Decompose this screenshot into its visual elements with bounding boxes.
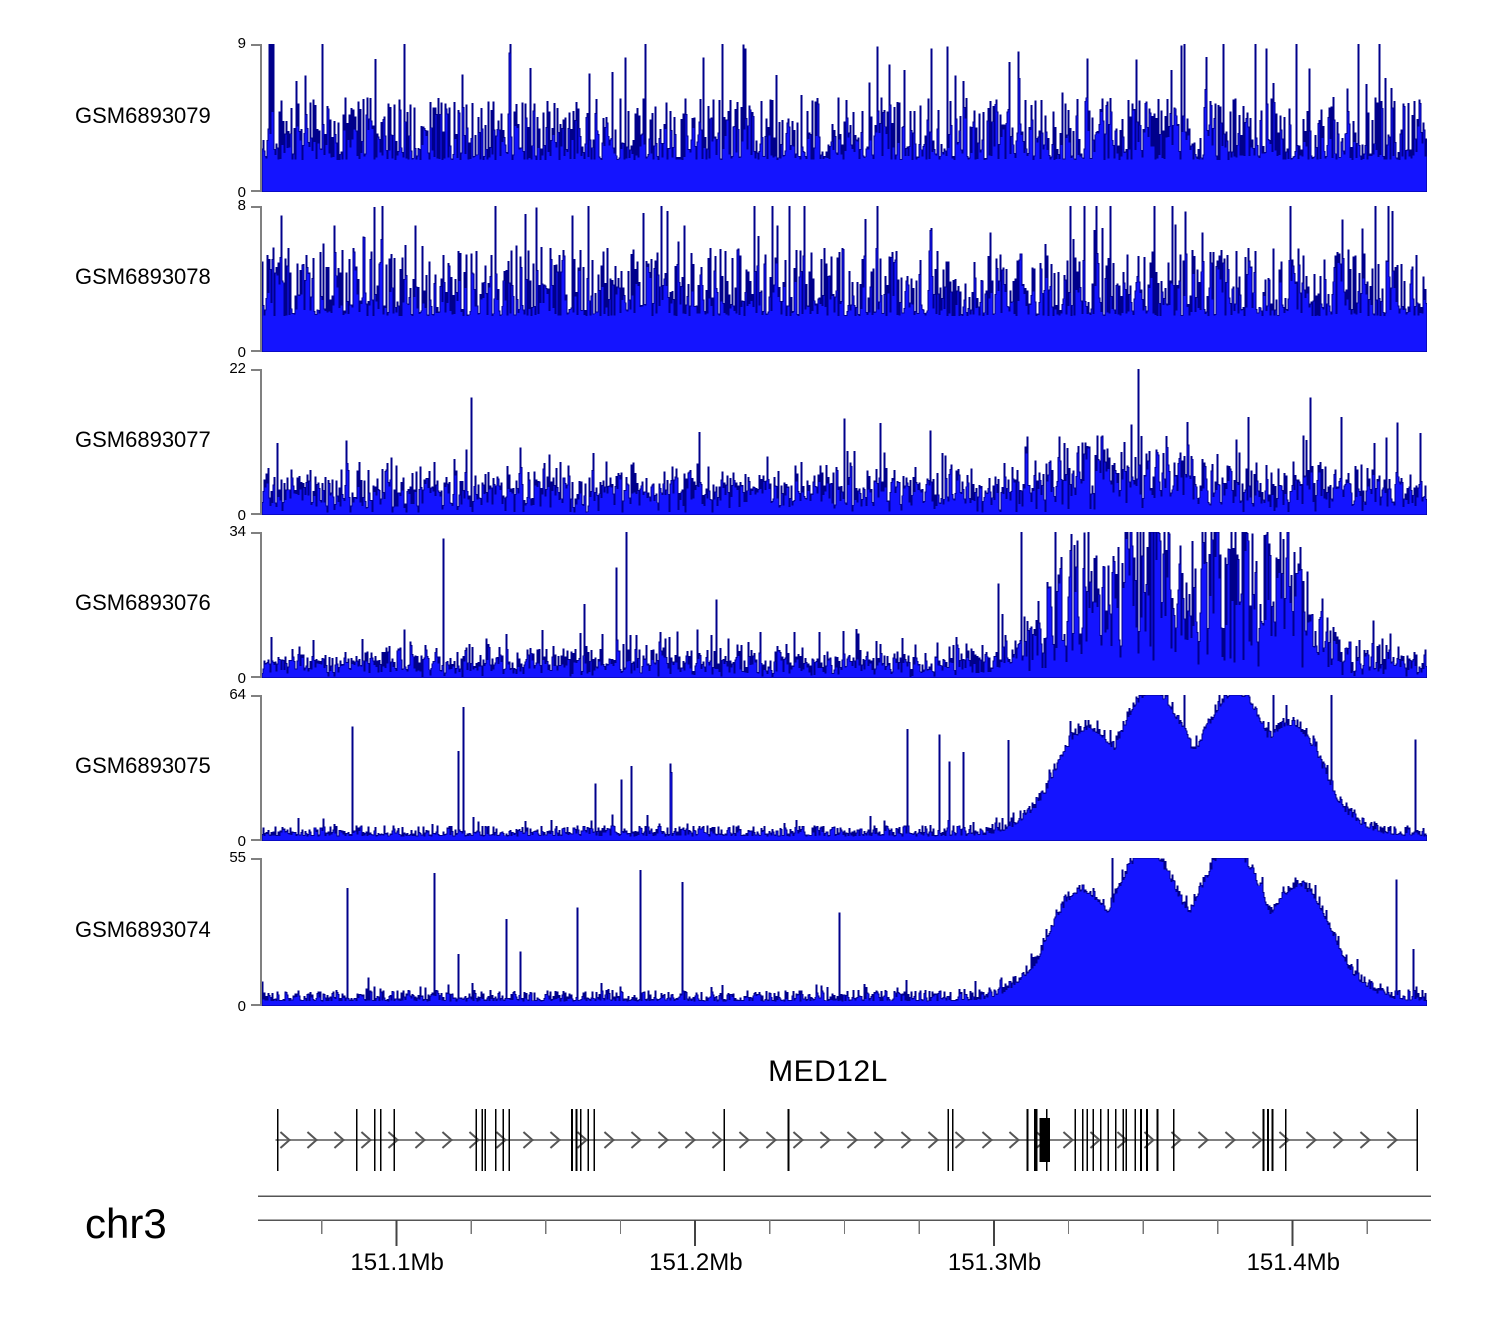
plot-area-gsm6893078[interactable]	[262, 206, 1427, 352]
plot-area-gsm6893079[interactable]	[262, 44, 1427, 192]
exon-bar	[580, 1109, 582, 1171]
coordinate-axis-track: chr3 151.1Mb151.2Mb151.3Mb151.4Mb	[0, 1190, 1500, 1300]
y-axis-tick-max	[251, 858, 262, 860]
exon-bar	[1417, 1109, 1419, 1171]
axis-tick-label: 151.4Mb	[1247, 1249, 1340, 1276]
exon-bar	[508, 1109, 510, 1171]
axis-svg: 151.1Mb151.2Mb151.3Mb151.4Mb	[0, 1190, 1500, 1300]
exon-bar	[948, 1109, 950, 1171]
y-axis-min-value-gsm6893078: 0	[238, 345, 246, 360]
exon-bar	[1267, 1109, 1269, 1171]
y-axis-tick-zero	[251, 350, 262, 352]
exon-bar	[1146, 1109, 1148, 1171]
exon-bar	[380, 1109, 382, 1171]
axis-tick-label: 151.2Mb	[649, 1249, 742, 1276]
y-axis-min-value-gsm6893077: 0	[238, 508, 246, 523]
exon-bar	[1082, 1109, 1084, 1171]
exon-bar	[1027, 1109, 1029, 1171]
coverage-area-gsm6893077	[262, 369, 1427, 515]
cds-box	[1039, 1118, 1050, 1162]
y-axis-tick-zero	[251, 839, 262, 841]
exon-bar	[1086, 1109, 1088, 1171]
gene-model-svg[interactable]	[0, 1095, 1500, 1185]
coverage-area-gsm6893079	[262, 44, 1427, 192]
exon-bar	[482, 1109, 484, 1171]
gene-name-label: MED12L	[0, 1055, 1500, 1089]
plot-area-gsm6893076[interactable]	[262, 532, 1427, 678]
y-axis-max-value-gsm6893078: 8	[238, 198, 246, 213]
coverage-area-gsm6893074	[262, 858, 1427, 1006]
exon-bar	[476, 1109, 478, 1171]
axis-tick-label: 151.3Mb	[948, 1249, 1041, 1276]
y-axis-tick-zero	[251, 513, 262, 515]
exon-bar	[495, 1109, 497, 1171]
y-axis-max-value-gsm6893077: 22	[229, 361, 246, 376]
plot-area-gsm6893077[interactable]	[262, 369, 1427, 515]
plot-area-gsm6893074[interactable]	[262, 858, 1427, 1006]
y-axis-tick-zero	[251, 1004, 262, 1006]
exon-bar	[1263, 1109, 1265, 1171]
exon-bar	[1122, 1109, 1124, 1171]
axis-tick-label: 151.1Mb	[350, 1249, 443, 1276]
y-axis-tick-max	[251, 532, 262, 534]
exon-bar	[1036, 1109, 1038, 1171]
y-axis-max-value-gsm6893075: 64	[229, 687, 246, 702]
exon-bar	[1140, 1109, 1142, 1171]
y-axis-min-value-gsm6893075: 0	[238, 834, 246, 849]
y-axis-max-value-gsm6893076: 34	[229, 524, 246, 539]
exon-bar	[277, 1109, 279, 1171]
exon-bar	[1157, 1109, 1159, 1171]
exon-bar	[1075, 1109, 1077, 1171]
y-axis-tick-max	[251, 369, 262, 371]
exon-bar	[724, 1109, 726, 1171]
exon-bar	[594, 1109, 596, 1171]
y-axis-max-value-gsm6893079: 9	[238, 36, 246, 51]
exon-bar	[1107, 1109, 1109, 1171]
exon-bar	[1134, 1109, 1136, 1171]
exon-bar	[1100, 1109, 1102, 1171]
gene-name-text: MED12L	[768, 1055, 888, 1088]
exon-bar	[485, 1109, 487, 1171]
exon-bar	[571, 1109, 573, 1171]
coverage-area-gsm6893078	[262, 206, 1427, 352]
exon-bar	[1092, 1109, 1094, 1171]
exon-bar	[502, 1109, 504, 1171]
y-axis-tick-zero	[251, 676, 262, 678]
genome-browser: GSM689307990GSM689307880GSM6893077220GSM…	[0, 0, 1500, 1320]
exon-bar	[374, 1109, 376, 1171]
exon-bar	[1173, 1109, 1175, 1171]
gene-model-track[interactable]: MED12L	[0, 1055, 1500, 1190]
coverage-area-gsm6893076	[262, 532, 1427, 678]
y-axis-tick-max	[251, 695, 262, 697]
exon-bar	[356, 1109, 358, 1171]
y-axis-tick-max	[251, 206, 262, 208]
y-axis-max-value-gsm6893074: 55	[229, 850, 246, 865]
y-axis-tick-zero	[251, 190, 262, 192]
y-axis-tick-max	[251, 44, 262, 46]
exon-bar	[788, 1109, 790, 1171]
exon-bar	[1034, 1109, 1036, 1171]
exon-bar	[1272, 1109, 1274, 1171]
exon-bar	[1125, 1109, 1127, 1171]
exon-bar	[1115, 1109, 1117, 1171]
exon-bar	[576, 1109, 578, 1171]
exon-bar	[588, 1109, 590, 1171]
plot-area-gsm6893075[interactable]	[262, 695, 1427, 841]
coverage-area-gsm6893075	[262, 695, 1427, 841]
y-axis-min-value-gsm6893074: 0	[238, 999, 246, 1014]
exon-bar	[1285, 1109, 1287, 1171]
exon-bar	[952, 1109, 954, 1171]
y-axis-min-value-gsm6893076: 0	[238, 671, 246, 686]
exon-bar	[393, 1109, 395, 1171]
